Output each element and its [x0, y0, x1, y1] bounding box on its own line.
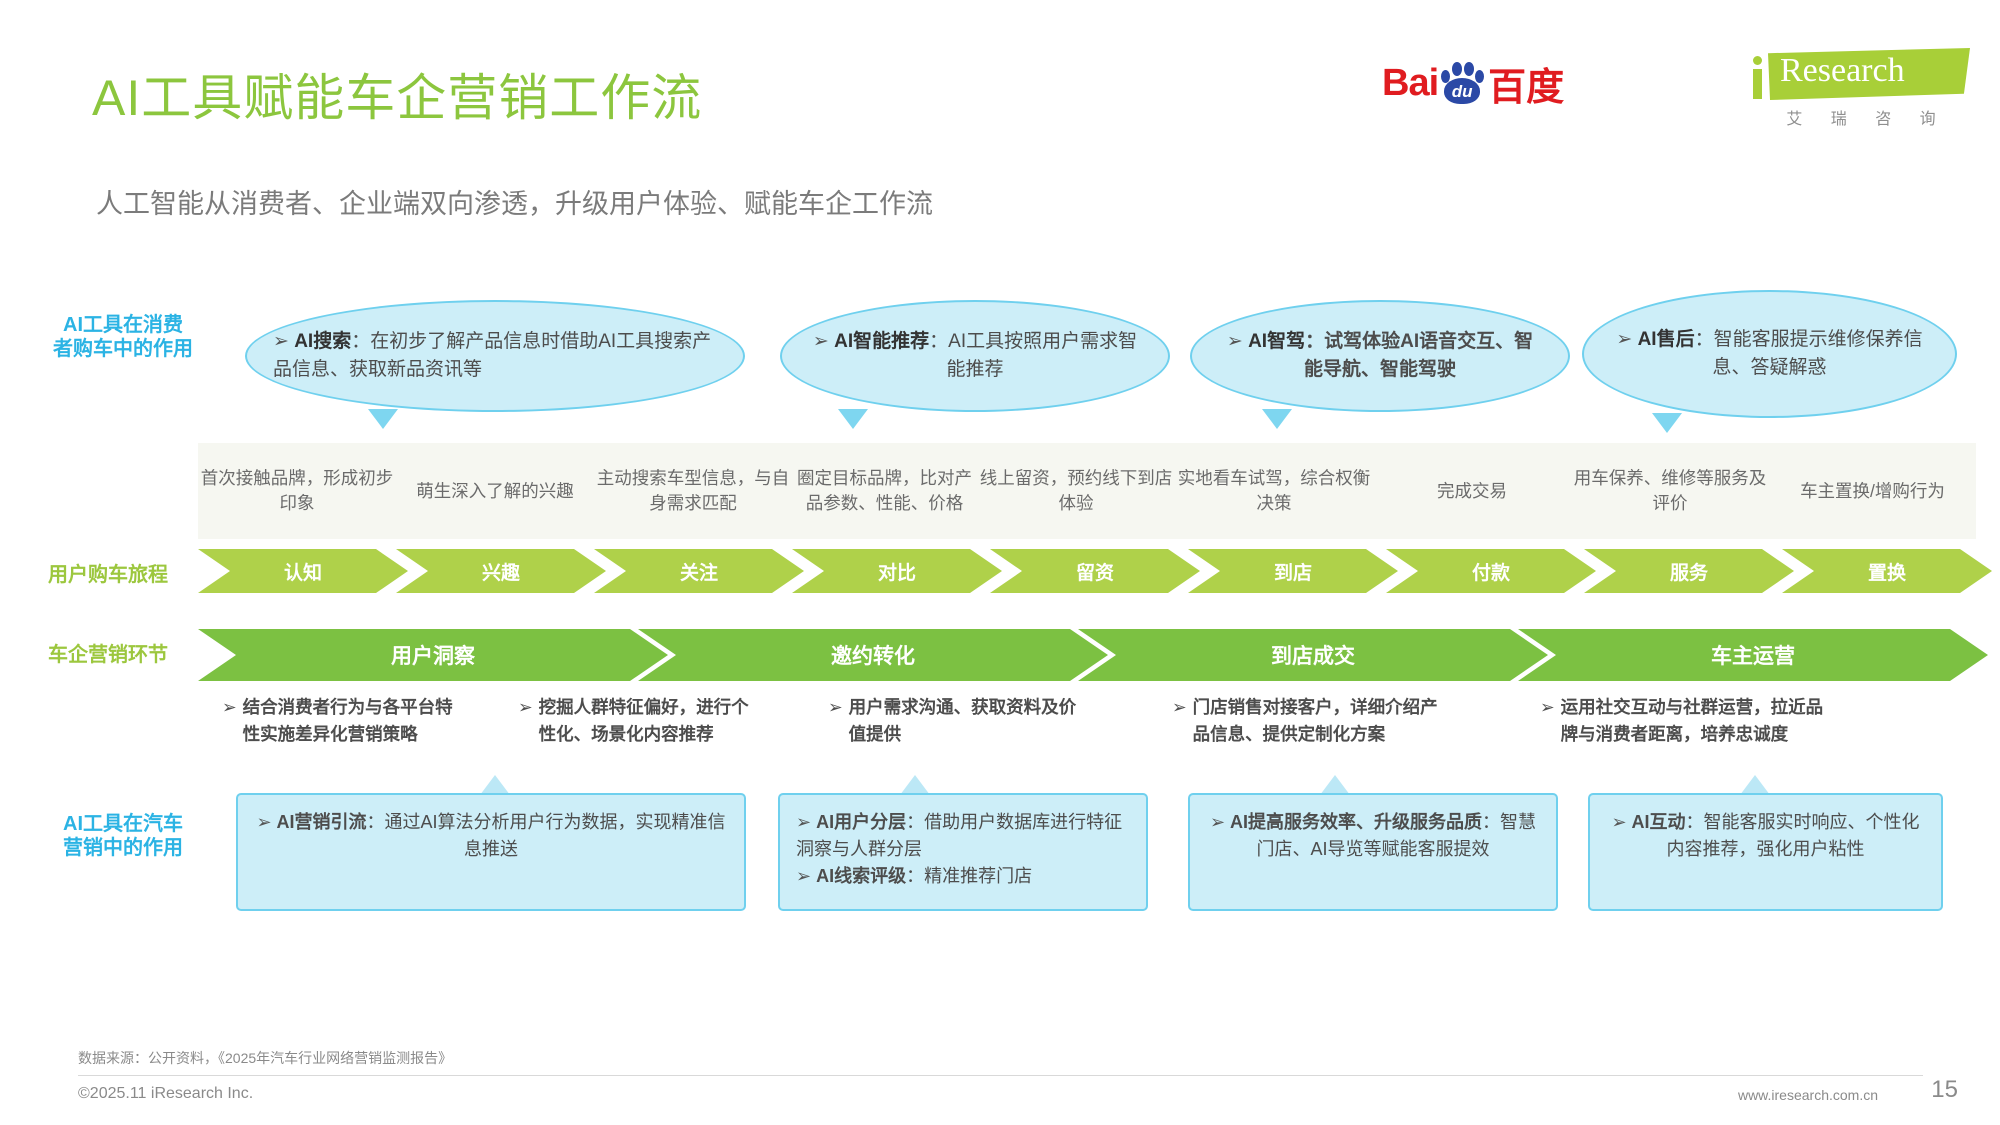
consumer-bubble-ai-recommend[interactable]: ➢ AI智能推荐：AI工具按照用户需求智能推荐 [780, 300, 1170, 412]
bullet-marker-icon: ➢ [222, 694, 237, 748]
journey-description-cell: 圈定目标品牌，比对产品参数、性能、价格 [792, 443, 977, 539]
ai-box-title: AI提高服务效率、升级服务品质 [1230, 812, 1482, 832]
ai-marketing-box-interaction[interactable]: ➢ AI互动：智能客服实时响应、个性化内容推荐，强化用户粘性 [1588, 793, 1943, 911]
journey-description-cell: 线上留资，预约线下到店体验 [977, 443, 1175, 539]
consumer-bubble-ai-driving[interactable]: ➢ AI智驾：试驾体验AI语音交互、智能导航、智能驾驶 [1190, 300, 1570, 412]
journey-stage-chevron[interactable]: 服务 [1584, 549, 1794, 593]
marketing-bullet-group: ➢门店销售对接客户，详细介绍产品信息、提供定制化方案 [1172, 694, 1452, 748]
row-label-marketing-stage: 车企营销环节 [48, 643, 208, 667]
bubble-sep: ： [1305, 331, 1324, 352]
consumer-bubble-text: ➢ AI售后：智能客服提示维修保养信息、答疑解惑 [1584, 326, 1955, 383]
journey-description-cell: 主动搜索车型信息，与自身需求匹配 [594, 443, 792, 539]
aibox-pointer-icon [900, 775, 930, 795]
iresearch-i-stem [1753, 69, 1762, 99]
ai-marketing-box-segmentation[interactable]: ➢ AI用户分层：借助用户数据库进行特征洞察与人群分层 ➢ AI线索评级：精准推… [778, 793, 1148, 911]
bullet-marker-icon: ➢ [518, 694, 533, 748]
bubble-pointer-icon [1262, 409, 1292, 429]
journey-description-cell: 完成交易 [1373, 443, 1571, 539]
bullet-marker-icon: ➢ [273, 331, 289, 352]
consumer-bubble-text: ➢ AI搜索：在初步了解产品信息时借助AI工具搜索产品信息、获取新品资讯等 [247, 328, 743, 385]
baidu-paw-icon: du [1439, 62, 1485, 104]
footer-url: www.iresearch.com.cn [1738, 1087, 1878, 1103]
ai-box-title: AI互动 [1632, 812, 1686, 832]
journey-description-cell: 首次接触品牌，形成初步印象 [198, 443, 396, 539]
iresearch-chinese-text: 艾 瑞 咨 询 [1740, 105, 1970, 129]
marketing-bullet-group: ➢挖掘人群特征偏好，进行个性化、场景化内容推荐 [518, 694, 758, 748]
marketing-bullet-text: 结合消费者行为与各平台特性实施差异化营销策略 [243, 694, 462, 748]
ai-box-sep: ： [906, 866, 924, 886]
ai-box-line: ➢ AI提高服务效率、升级服务品质：智慧门店、AI导览等赋能客服提效 [1206, 809, 1540, 863]
bullet-marker-icon: ➢ [796, 812, 811, 832]
bullet-marker-icon: ➢ [813, 331, 829, 352]
bullet-marker-icon: ➢ [1210, 812, 1225, 832]
aibox-pointer-icon [480, 775, 510, 795]
bubble-pointer-icon [368, 409, 398, 429]
aibox-pointer-icon [1320, 775, 1350, 795]
row-label-ai-marketing-role: AI工具在汽车 营销中的作用 [48, 812, 198, 861]
row-label-journey: 用户购车旅程 [48, 563, 208, 587]
footer-page-number: 15 [1931, 1076, 1958, 1104]
ai-box-sep: ： [906, 812, 924, 832]
bullet-marker-icon: ➢ [1540, 694, 1555, 748]
ai-box-sep: ： [367, 812, 385, 832]
bullet-marker-icon: ➢ [256, 812, 271, 832]
bubble-sep: ： [929, 331, 948, 352]
baidu-mark-text: du [1452, 82, 1473, 102]
iresearch-i-dot [1753, 56, 1762, 65]
journey-stage-row: 认知 兴趣 关注 对比 留资 到店 付款 服务 置换 [198, 549, 1976, 593]
iresearch-logo: Research 艾 瑞 咨 询 [1740, 48, 1970, 129]
marketing-stage-chevron[interactable]: 车主运营 [1518, 629, 1988, 681]
marketing-bullet-group: ➢运用社交互动与社群运营，拉近品牌与消费者距离，培养忠诚度 [1540, 694, 1830, 748]
iresearch-wordmark: Research [1780, 52, 1905, 90]
aibox-pointer-icon [1740, 775, 1770, 795]
baidu-logo: Bai du 百度 [1382, 60, 1564, 106]
baidu-latin-text: Bai [1382, 62, 1438, 105]
marketing-stage-chevron[interactable]: 到店成交 [1078, 629, 1548, 681]
journey-stage-chevron[interactable]: 认知 [198, 549, 408, 593]
row-label-consumer-role: AI工具在消费 者购车中的作用 [48, 313, 198, 362]
marketing-stage-chevron[interactable]: 用户洞察 [198, 629, 668, 681]
ai-box-line: ➢ AI营销引流：通过AI算法分析用户行为数据，实现精准信息推送 [254, 809, 728, 863]
marketing-bullet-text: 挖掘人群特征偏好，进行个性化、场景化内容推荐 [539, 694, 758, 748]
bubble-title: AI搜索 [294, 331, 351, 352]
bullet-marker-icon: ➢ [796, 866, 811, 886]
bullet-marker-icon: ➢ [828, 694, 843, 748]
journey-stage-chevron[interactable]: 留资 [990, 549, 1200, 593]
marketing-bullet-text: 用户需求沟通、获取资料及价值提供 [849, 694, 1078, 748]
consumer-bubble-ai-aftersales[interactable]: ➢ AI售后：智能客服提示维修保养信息、答疑解惑 [1582, 290, 1957, 418]
journey-stage-chevron[interactable]: 到店 [1188, 549, 1398, 593]
bubble-title: AI售后 [1638, 329, 1695, 350]
page-title: AI工具赋能车企营销工作流 [92, 58, 702, 130]
ai-box-sep: ： [1482, 812, 1500, 832]
baidu-chinese-text: 百度 [1488, 56, 1564, 111]
bubble-sep: ： [351, 331, 370, 352]
bubble-sep: ： [1695, 329, 1714, 350]
ai-box-body: 智能客服实时响应、个性化内容推荐，强化用户粘性 [1667, 812, 1920, 859]
bubble-body: 试驾体验AI语音交互、智能导航、智能驾驶 [1304, 331, 1533, 381]
journey-description-cell: 用车保养、维修等服务及评价 [1571, 443, 1769, 539]
bubble-body: AI工具按照用户需求智能推荐 [946, 331, 1137, 381]
ai-box-line: ➢ AI用户分层：借助用户数据库进行特征洞察与人群分层 [796, 809, 1130, 863]
marketing-bullet-text: 运用社交互动与社群运营，拉近品牌与消费者距离，培养忠诚度 [1561, 694, 1830, 748]
marketing-bullet-group: ➢结合消费者行为与各平台特性实施差异化营销策略 [222, 694, 462, 748]
consumer-bubble-text: ➢ AI智能推荐：AI工具按照用户需求智能推荐 [782, 328, 1168, 385]
page-subtitle: 人工智能从消费者、企业端双向渗透，升级用户体验、赋能车企工作流 [96, 182, 933, 221]
marketing-stage-chevron[interactable]: 邀约转化 [638, 629, 1108, 681]
journey-description-cell: 实地看车试驾，综合权衡决策 [1175, 443, 1373, 539]
marketing-stage-row: 用户洞察 邀约转化 到店成交 车主运营 [198, 629, 1976, 681]
footer-divider [78, 1075, 1923, 1076]
footer-source: 数据来源：公开资料，《2025年汽车行业网络营销监测报告》 [78, 1048, 452, 1068]
bubble-pointer-icon [838, 409, 868, 429]
journey-stage-chevron[interactable]: 置换 [1782, 549, 1992, 593]
ai-box-title: AI用户分层 [816, 812, 906, 832]
bullet-marker-icon: ➢ [1611, 812, 1626, 832]
ai-box-title: AI营销引流 [277, 812, 367, 832]
journey-description-cell: 车主置换/增购行为 [1769, 443, 1976, 539]
marketing-bullet-text: 门店销售对接客户，详细介绍产品信息、提供定制化方案 [1193, 694, 1452, 748]
journey-description-cell: 萌生深入了解的兴趣 [396, 443, 594, 539]
journey-stage-chevron[interactable]: 对比 [792, 549, 1002, 593]
ai-box-title: AI线索评级 [816, 866, 906, 886]
bubble-title: AI智驾 [1248, 331, 1305, 352]
ai-box-body: 通过AI算法分析用户行为数据，实现精准信息推送 [385, 812, 726, 859]
ai-box-sep: ： [1686, 812, 1704, 832]
bullet-marker-icon: ➢ [1172, 694, 1187, 748]
ai-marketing-box-service[interactable]: ➢ AI提高服务效率、升级服务品质：智慧门店、AI导览等赋能客服提效 [1188, 793, 1558, 911]
journey-stage-chevron[interactable]: 兴趣 [396, 549, 606, 593]
consumer-bubble-ai-search[interactable]: ➢ AI搜索：在初步了解产品信息时借助AI工具搜索产品信息、获取新品资讯等 [245, 300, 745, 412]
journey-stage-chevron[interactable]: 关注 [594, 549, 804, 593]
consumer-bubble-text: ➢ AI智驾：试驾体验AI语音交互、智能导航、智能驾驶 [1192, 328, 1568, 385]
bullet-marker-icon: ➢ [1616, 329, 1632, 350]
ai-box-line: ➢ AI互动：智能客服实时响应、个性化内容推荐，强化用户粘性 [1606, 809, 1925, 863]
ai-box-line: ➢ AI线索评级：精准推荐门店 [796, 863, 1130, 890]
ai-marketing-box-traffic[interactable]: ➢ AI营销引流：通过AI算法分析用户行为数据，实现精准信息推送 [236, 793, 746, 911]
bubble-title: AI智能推荐 [834, 331, 929, 352]
bullet-marker-icon: ➢ [1227, 331, 1243, 352]
bubble-body: 智能客服提示维修保养信息、答疑解惑 [1712, 329, 1922, 379]
footer-copyright: ©2025.11 iResearch Inc. [78, 1085, 253, 1103]
journey-stage-chevron[interactable]: 付款 [1386, 549, 1596, 593]
ai-box-body: 精准推荐门店 [924, 866, 1032, 886]
bubble-pointer-icon [1652, 413, 1682, 433]
marketing-bullet-group: ➢用户需求沟通、获取资料及价值提供 [828, 694, 1078, 748]
